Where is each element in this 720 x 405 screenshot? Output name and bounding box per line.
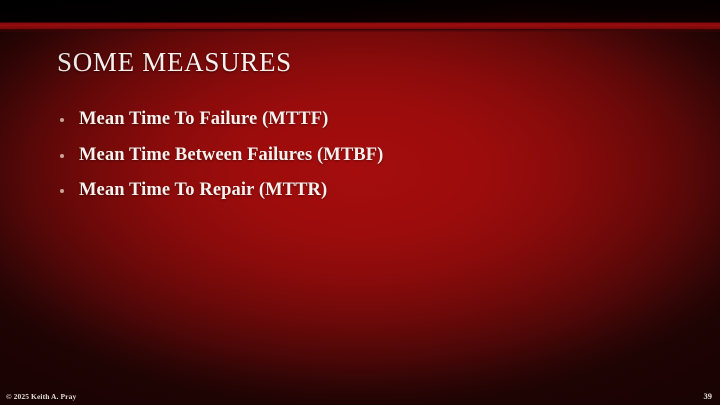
slide-header-bar <box>0 0 720 23</box>
bullet-list: Mean Time To Failure (MTTF) Mean Time Be… <box>57 108 657 215</box>
slide-title: SOME MEASURES <box>57 47 292 78</box>
bullet-dot-icon <box>60 118 64 122</box>
bullet-list-item: Mean Time To Repair (MTTR) <box>57 179 657 203</box>
bullet-list-item: Mean Time Between Failures (MTBF) <box>57 144 657 168</box>
bullet-text: Mean Time To Repair (MTTR) <box>79 180 327 200</box>
bullet-text: Mean Time To Failure (MTTF) <box>79 109 328 129</box>
bullet-text: Mean Time Between Failures (MTBF) <box>79 145 383 165</box>
slide-page-number: 39 <box>704 391 713 401</box>
header-accent-strip-shadow <box>0 29 720 32</box>
bullet-dot-icon <box>60 154 64 158</box>
bullet-list-item: Mean Time To Failure (MTTF) <box>57 108 657 132</box>
bullet-dot-icon <box>60 189 64 193</box>
presentation-slide: CS 3043 Social Implications Of Computing… <box>0 0 720 405</box>
footer-copyright: © 2025 Keith A. Pray <box>6 392 76 401</box>
